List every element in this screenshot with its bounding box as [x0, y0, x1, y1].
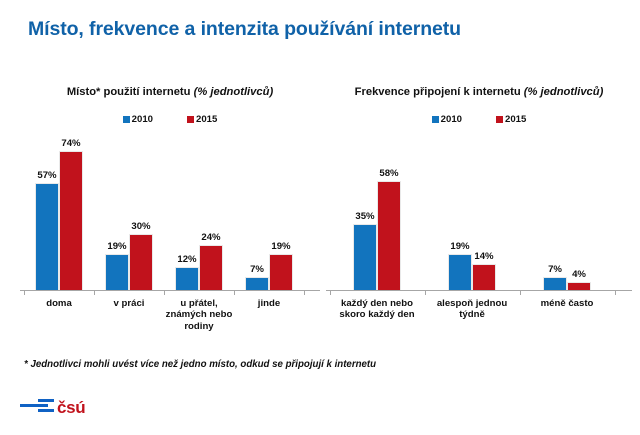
slide: Místo, frekvence a intenzita používání i…: [0, 0, 640, 435]
chart-legend-misto: 2010 2015: [20, 115, 320, 125]
bar-value-label: 57%: [37, 171, 56, 181]
legend-label-2010: 2010: [132, 115, 153, 125]
legend-item-2015: 2015: [496, 115, 526, 125]
bar-2010-0[interactable]: 57%: [35, 171, 59, 290]
legend-swatch-2010-icon: [432, 116, 439, 123]
chart-panel-frekvence: Frekvence připojení k internetu (% jedno…: [326, 86, 632, 342]
plot-area-frekvence: 35%58%19%14%7%4%: [326, 139, 632, 291]
chart-title-frekvence-italic: (% jednotlivců): [524, 86, 604, 98]
bar-2010-0[interactable]: 35%: [353, 212, 377, 290]
bar-group: 7%19%: [238, 242, 300, 290]
x-axis-tick: [304, 291, 305, 295]
bar-rect: [105, 254, 129, 290]
bar-2010-1[interactable]: 19%: [105, 242, 129, 290]
category-labels-frekvence: každý den neboskoro každý denalespoň jed…: [326, 298, 632, 342]
chart-title-frekvence: Frekvence připojení k internetu (% jedno…: [326, 86, 632, 98]
legend-label-2010: 2010: [441, 115, 462, 125]
x-axis-tick: [520, 291, 521, 295]
bar-value-label: 7%: [250, 265, 264, 275]
x-axis-tick: [234, 291, 235, 295]
bar-2015-2[interactable]: 24%: [199, 233, 223, 290]
bar-group: 19%30%: [98, 222, 160, 290]
bar-2010-2[interactable]: 12%: [175, 255, 199, 290]
bar-rect: [448, 254, 472, 290]
bar-2015-0[interactable]: 58%: [377, 169, 401, 290]
bar-value-label: 74%: [61, 139, 80, 149]
x-axis-tick: [24, 291, 25, 295]
bar-rect: [543, 277, 567, 290]
chart-title-frekvence-plain: Frekvence připojení k internetu: [355, 86, 524, 98]
bar-value-label: 7%: [548, 265, 562, 275]
bar-rect: [269, 254, 293, 290]
bar-group: 19%14%: [435, 242, 509, 290]
bar-rect: [129, 234, 153, 290]
legend-label-2015: 2015: [196, 115, 217, 125]
bar-2015-1[interactable]: 14%: [472, 252, 496, 290]
x-axis-tick: [94, 291, 95, 295]
bar-2015-1[interactable]: 30%: [129, 222, 153, 290]
x-axis-tick: [164, 291, 165, 295]
bar-2010-1[interactable]: 19%: [448, 242, 472, 290]
legend-item-2010: 2010: [432, 115, 462, 125]
category-label: každý den neboskoro každý den: [330, 298, 424, 321]
bar-value-label: 30%: [131, 222, 150, 232]
x-axis-tick: [330, 291, 331, 295]
bar-2015-2[interactable]: 4%: [567, 270, 591, 290]
bar-group: 7%4%: [530, 265, 604, 290]
bar-group: 57%74%: [28, 139, 90, 290]
legend-label-2015: 2015: [505, 115, 526, 125]
bar-rect: [175, 267, 199, 290]
bar-rect: [472, 264, 496, 290]
bar-2010-2[interactable]: 7%: [543, 265, 567, 290]
bar-2015-3[interactable]: 19%: [269, 242, 293, 290]
category-label: alespoň jednoutýdně: [425, 298, 519, 321]
x-axis-line-frekvence: [326, 290, 632, 291]
page-title: Místo, frekvence a intenzita používání i…: [28, 18, 461, 41]
plot-area-misto: 57%74%19%30%12%24%7%19%: [20, 139, 320, 291]
chart-legend-frekvence: 2010 2015: [326, 115, 632, 125]
chart-title-misto: Místo* použití internetu (% jednotlivců): [20, 86, 320, 98]
bar-value-label: 19%: [271, 242, 290, 252]
bar-rect: [567, 282, 591, 290]
bar-2015-0[interactable]: 74%: [59, 139, 83, 290]
footnote: * Jednotlivci mohli uvést více než jedno…: [24, 359, 376, 370]
bar-2010-3[interactable]: 7%: [245, 265, 269, 290]
bar-value-label: 35%: [355, 212, 374, 222]
csu-logo-bars-icon: [20, 396, 54, 418]
category-label: méně často: [520, 298, 614, 310]
bar-value-label: 14%: [474, 252, 493, 262]
bar-rect: [377, 181, 401, 290]
bar-rect: [199, 245, 223, 290]
legend-item-2010: 2010: [123, 115, 153, 125]
bar-group: 35%58%: [340, 169, 414, 290]
x-axis-line-misto: [20, 290, 320, 291]
bar-rect: [353, 224, 377, 290]
bar-value-label: 19%: [450, 242, 469, 252]
bar-rect: [59, 151, 83, 290]
legend-swatch-2010-icon: [123, 116, 130, 123]
x-axis-tick: [425, 291, 426, 295]
legend-swatch-2015-icon: [496, 116, 503, 123]
bar-rect: [35, 183, 59, 290]
bar-value-label: 58%: [379, 169, 398, 179]
bar-value-label: 19%: [107, 242, 126, 252]
x-axis-tick: [615, 291, 616, 295]
legend-swatch-2015-icon: [187, 116, 194, 123]
category-labels-misto: domav práciu přátel,známých neborodinyji…: [20, 298, 320, 342]
category-label: jinde: [228, 298, 310, 310]
bar-value-label: 24%: [201, 233, 220, 243]
chart-title-misto-plain: Místo* použití internetu: [67, 86, 194, 98]
csu-logo: čsú: [20, 396, 85, 418]
chart-panel-misto: Místo* použití internetu (% jednotlivců)…: [20, 86, 320, 342]
bar-value-label: 12%: [177, 255, 196, 265]
chart-title-misto-italic: (% jednotlivců): [194, 86, 274, 98]
csu-logo-text: čsú: [57, 399, 85, 416]
bar-group: 12%24%: [168, 233, 230, 290]
legend-item-2015: 2015: [187, 115, 217, 125]
bar-value-label: 4%: [572, 270, 586, 280]
bar-rect: [245, 277, 269, 290]
